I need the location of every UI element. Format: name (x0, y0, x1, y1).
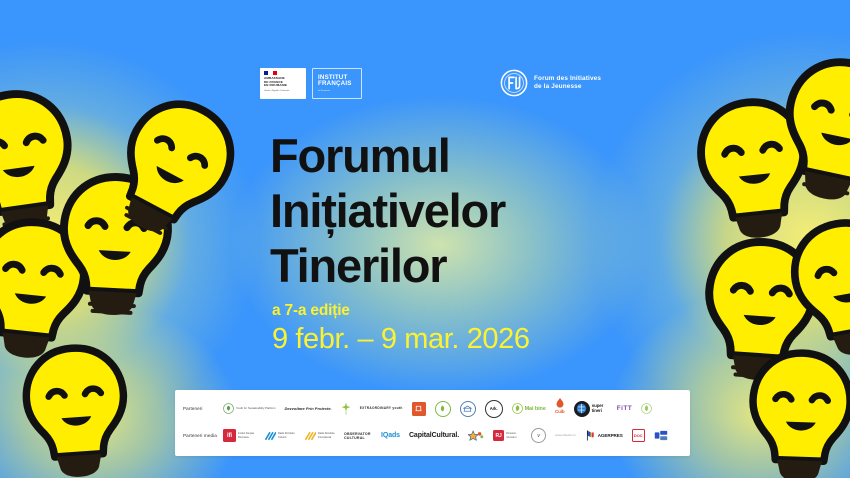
media-partner-logo[interactable] (468, 425, 484, 447)
fij-wordmark: Forum des Initiatives de la Jeunesse (534, 75, 601, 91)
partner-logo[interactable] (435, 398, 451, 420)
partners-row: Parteneri Youth for Sustainability Platf… (183, 395, 682, 422)
lightbulb-right-1 (687, 89, 820, 251)
star-colored-icon (468, 430, 484, 442)
square-orange-icon (412, 402, 426, 416)
partner-logo[interactable]: Dezvoltare Prin Proiecte. (285, 398, 332, 420)
lightbulb-right-5 (743, 343, 850, 478)
media-partner-name: AGERPRES (598, 433, 623, 438)
media-partner-name: Radio România International (318, 432, 335, 438)
media-partner-name: Romania Journal.ro (506, 432, 522, 438)
media-partner-logo[interactable]: CapitalCultural. (409, 425, 459, 447)
media-partner-logo[interactable]: Radio România Cultural (264, 425, 295, 447)
media-partners-logo-list: ifi Institut français Roumanie Radio Rom… (223, 423, 682, 449)
flag-tricolor-icon (585, 430, 596, 441)
partner-logo[interactable]: Youth for Sustainability Platform (223, 398, 276, 420)
french-institutions-logos: AMBASSADE DE FRANCE EN ROUMANIE Liberté … (260, 68, 362, 99)
media-partner-name: www.obiectiv.ro (555, 434, 576, 437)
partner-logo[interactable]: FiTT (617, 398, 632, 420)
partners-logo-list: Youth for Sustainability Platform Dezvol… (223, 396, 682, 422)
ambassade-de-france-en-roumanie-logo: AMBASSADE DE FRANCE EN ROUMANIE Liberté … (260, 68, 306, 99)
title-line-3: Tinerilor (270, 238, 690, 293)
stripes-yellow-icon (304, 430, 316, 442)
lightbulb-left-4 (51, 167, 179, 325)
partner-logo[interactable]: super tineri (574, 398, 608, 420)
institut-sub: de Roumanie (318, 90, 361, 92)
media-partner-logo[interactable]: OBSERVATOR CULTURAL (344, 425, 372, 447)
media-partner-name: IQads (381, 432, 400, 439)
lightbulb-left-2 (0, 209, 98, 371)
title-line-1: Forumul (270, 128, 690, 183)
title-line-2: Inițiativelor (270, 183, 690, 238)
media-partner-name: Institut français Roumanie (238, 432, 255, 438)
flame-orange-icon (555, 398, 565, 409)
partner-name: EXTRAORDINARY youth (360, 407, 403, 411)
leaf-circle-icon (223, 403, 234, 414)
event-dates: 9 febr. – 9 mar. 2026 (272, 323, 690, 356)
page-title: Forumul Inițiativelor Tinerilor (270, 128, 690, 293)
media-partner-logo[interactable]: AGERPRES (585, 425, 623, 447)
fij-line-2: de la Jeunesse (534, 83, 601, 91)
partners-panel: Parteneri Youth for Sustainability Platf… (175, 390, 690, 456)
institut-line-2: FRANÇAIS (318, 81, 361, 87)
media-partner-name: CapitalCultural. (409, 432, 459, 439)
media-partner-name: DOC (634, 433, 643, 438)
media-partner-logo[interactable]: ifi Institut français Roumanie (223, 425, 255, 447)
partners-label: Parteneri (183, 406, 223, 411)
media-partner-logo[interactable] (654, 425, 668, 447)
partner-name: Mai bine (525, 406, 546, 412)
header-logo-row: AMBASSADE DE FRANCE EN ROUMANIE Liberté … (0, 63, 850, 107)
embassy-motto: Liberté • Égalité • Fraternité (264, 90, 303, 93)
partner-name: Ark. (490, 406, 498, 411)
partner-logo[interactable] (341, 398, 351, 420)
media-partner-logo[interactable]: V (531, 425, 546, 447)
partner-name: Youth for Sustainability Platform (236, 407, 276, 410)
edition-label: a 7-a ediție (272, 302, 690, 320)
media-partner-name: Radio România Cultural (278, 432, 295, 438)
circle-lightgreen-icon (641, 403, 652, 414)
media-partner-logo[interactable]: www.obiectiv.ro (555, 425, 576, 447)
circle-green-icon (435, 401, 451, 417)
headline-block: Forumul Inițiativelor Tinerilor a 7-a ed… (270, 128, 690, 356)
institut-francais-logo: INSTITUT FRANÇAIS de Roumanie (312, 68, 362, 99)
blue-block-icon (654, 430, 668, 441)
partner-logo[interactable] (412, 398, 426, 420)
media-partner-logo[interactable]: DOC (632, 425, 645, 447)
partner-name: Dezvoltare Prin Proiecte. (285, 407, 332, 411)
partner-logo[interactable] (460, 398, 476, 420)
partner-name: Cuib (555, 409, 565, 414)
media-partner-logo[interactable]: RJ Romania Journal.ro (493, 425, 522, 447)
forum-des-initiatives-de-la-jeunesse-logo: Forum des Initiatives de la Jeunesse (500, 69, 601, 97)
leaf-green-icon (512, 403, 523, 414)
partner-logo[interactable]: Cuib (555, 398, 565, 420)
lightbulb-left-3 (15, 336, 137, 478)
circle-blue-icon (460, 401, 476, 417)
lightbulb-right-4 (778, 206, 850, 372)
partner-name: super tineri (592, 404, 608, 412)
media-partners-label: Parteneri media (183, 433, 223, 438)
fij-monogram-icon (500, 69, 528, 97)
poster-canvas: AMBASSADE DE FRANCE EN ROUMANIE Liberté … (0, 0, 850, 478)
sparkle-icon (341, 402, 351, 416)
partner-logo[interactable]: Ark. (485, 398, 503, 420)
partner-logo[interactable]: Mai bine (512, 398, 546, 420)
media-partner-name: OBSERVATOR CULTURAL (344, 432, 372, 440)
fij-line-1: Forum des Initiatives (534, 75, 601, 83)
partner-logo[interactable]: EXTRAORDINARY youth (360, 398, 403, 420)
media-partners-row: Parteneri media ifi Institut français Ro… (183, 422, 682, 449)
partner-logo[interactable] (641, 398, 652, 420)
media-partner-logo[interactable]: IQads (381, 425, 400, 447)
partner-name: FiTT (617, 405, 632, 412)
embassy-line-3: EN ROUMANIE (264, 84, 303, 88)
media-partner-logo[interactable]: Radio România International (304, 425, 335, 447)
stripes-blue-icon (264, 430, 276, 442)
lightbulb-right-3 (695, 231, 825, 391)
french-tricolor-flag-icon (264, 71, 277, 75)
